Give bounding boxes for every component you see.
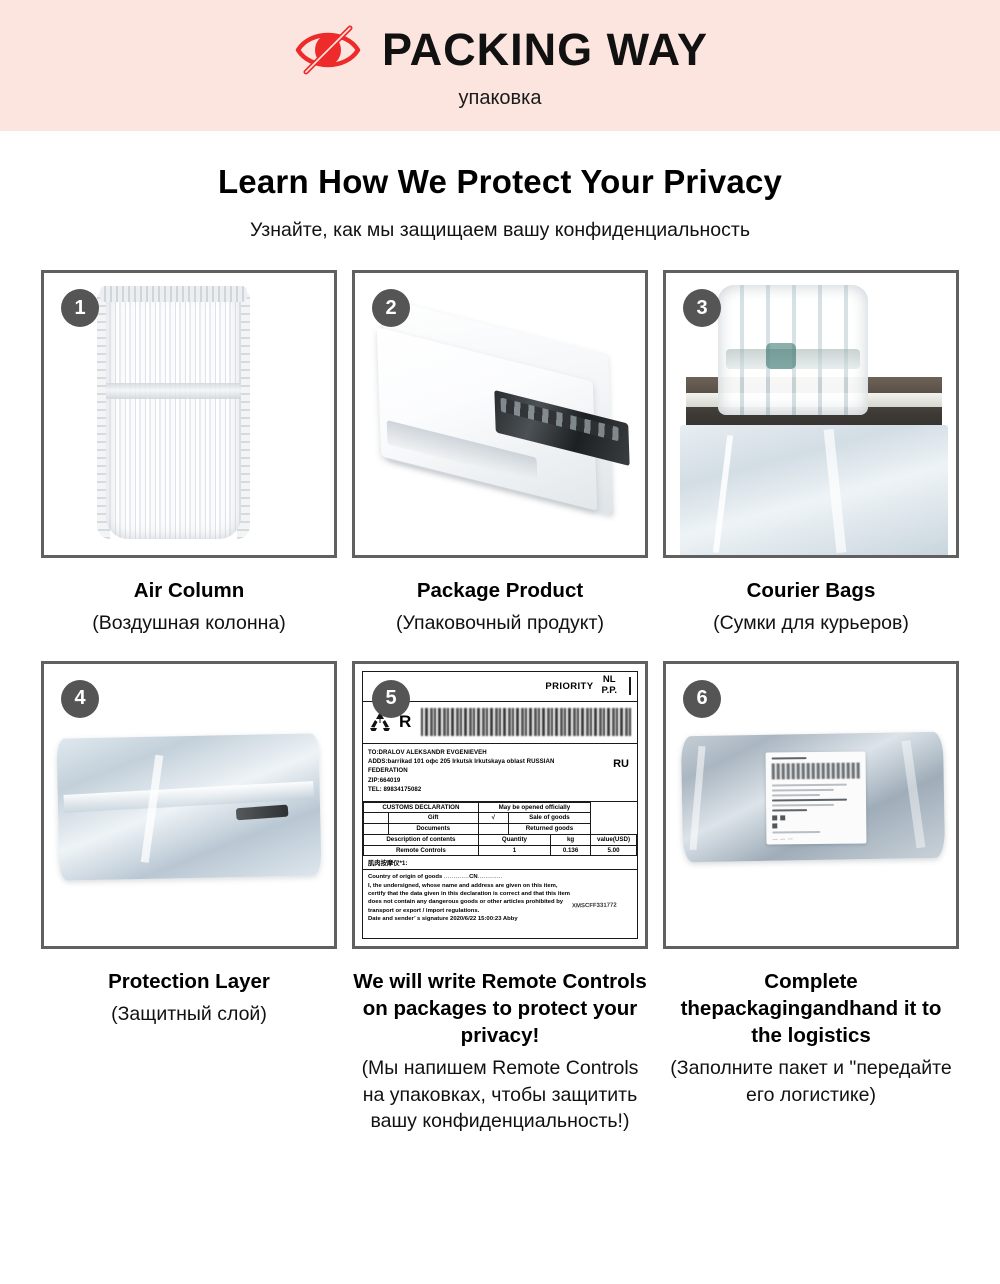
step-title-en-1: Air Column <box>41 577 337 604</box>
label-federation: FEDERATION <box>368 766 632 775</box>
label-zip: ZIP:664019 <box>368 776 632 785</box>
step-card-4: 4 <box>41 661 337 949</box>
page-subtitle: Узнайте, как мы защищаем вашу конфиденци… <box>0 219 1000 242</box>
step-title-en-2: Package Product <box>352 577 648 604</box>
label-tracking-stamp: XMSCFF331772 <box>572 902 617 909</box>
step-card-5: 5 PRIORITY NL P.P. <box>352 661 648 949</box>
brand-name-ru: упаковка <box>459 87 542 110</box>
step-caption-1: Air Column (Воздушная колонна) <box>41 558 337 637</box>
customs-row-kg: 0.136 <box>551 845 591 856</box>
label-address-block: TO:DRALOV ALEKSANDR EVGENIEVEH ADDS:barr… <box>363 744 637 802</box>
label-recipient: TO:DRALOV ALEKSANDR EVGENIEVEH <box>368 748 632 757</box>
label-pp-code: P.P. <box>601 686 617 697</box>
page-header: PACKING WAY упаковка <box>0 0 1000 131</box>
brand-name: PACKING WAY <box>382 27 708 72</box>
step-title-en-6: Complete thepackagingandhand it to the l… <box>663 968 959 1050</box>
origin-row: Country of origin of goods .............… <box>368 873 632 881</box>
customs-col-quantity: Quantity <box>478 834 550 845</box>
customs-header-left: CUSTOMS DECLARATION <box>364 802 479 813</box>
table-row: Remote Controls 1 0.136 5.00 <box>364 845 637 856</box>
step-title-ru-6: (Заполните пакет и "передайте его логист… <box>663 1055 959 1108</box>
step-badge-3: 3 <box>683 289 721 327</box>
label-fineprint: Country of origin of goods .............… <box>363 870 637 926</box>
step-cell-3: 3 Courier Bags (Сумки для курьеров) <box>663 270 959 637</box>
label-barcode <box>421 708 633 736</box>
step-title-en-4: Protection Layer <box>41 968 337 995</box>
step-title-ru-3: (Сумки для курьеров) <box>663 610 959 636</box>
step-title-ru-5: (Мы напишем Remote Controls на упаковках… <box>352 1055 648 1134</box>
signature-line: Date and sender’ s signature 2020/6/22 1… <box>368 915 632 923</box>
label-tel: TEL: 89834175082 <box>368 785 632 794</box>
step-card-2: 2 <box>352 270 648 558</box>
customs-row-quantity: 1 <box>478 845 550 856</box>
step-badge-2: 2 <box>372 289 410 327</box>
origin-label: Country of origin of goods <box>368 874 442 880</box>
step-cell-2: 2 Package Product (Упаковочный продукт) <box>352 270 648 637</box>
label-country-code: RU <box>613 758 629 770</box>
step-card-6: 6 — — — <box>663 661 959 949</box>
table-row: Gift √ Sale of goods <box>364 813 637 824</box>
customs-gift-check: √ <box>478 813 508 824</box>
step-title-ru-4: (Защитный слой) <box>41 1001 337 1027</box>
customs-returned-goods: Returned goods <box>508 824 590 835</box>
customs-gift: Gift <box>388 813 478 824</box>
page-title: Learn How We Protect Your Privacy <box>0 163 1000 201</box>
qr-code-icon <box>772 815 785 828</box>
step-title-ru-2: (Упаковочный продукт) <box>352 610 648 636</box>
step-badge-4: 4 <box>61 680 99 718</box>
customs-col-kg: kg <box>551 834 591 845</box>
step-caption-3: Courier Bags (Сумки для курьеров) <box>663 558 959 637</box>
customs-row-value: 5.00 <box>591 845 637 856</box>
customs-documents: Documents <box>388 824 478 835</box>
step-title-en-3: Courier Bags <box>663 577 959 604</box>
customs-row-description: Remote Controls <box>364 845 479 856</box>
declaration-line-2: certify that the data given in this decl… <box>368 890 632 898</box>
table-row: Description of contents Quantity kg valu… <box>364 834 637 845</box>
step-cell-1: 1 Air Column (Воздушная колонна) <box>41 270 337 637</box>
label-country-block: NL P.P. <box>601 675 617 697</box>
step-title-en-5: We will write Remote Controls on package… <box>352 968 648 1050</box>
table-row: CUSTOMS DECLARATION May be opened offici… <box>364 802 637 813</box>
step-caption-5: We will write Remote Controls on package… <box>352 949 648 1135</box>
origin-value: CN <box>469 874 478 880</box>
steps-grid: 1 Air Column (Воздушная колонна) 2 <box>41 242 959 1134</box>
parcel-label-hand-note: — — — <box>772 835 860 842</box>
customs-col-description: Description of contents <box>364 834 479 845</box>
customs-sale-of-goods: Sale of goods <box>508 813 590 824</box>
table-row: Documents Returned goods <box>364 824 637 835</box>
step-cell-6: 6 — — — Complete thepac <box>663 661 959 1135</box>
declaration-line-1: I, the undersigned, whose name and addre… <box>368 882 632 890</box>
step-card-3: 3 <box>663 270 959 558</box>
page-titles: Learn How We Protect Your Privacy Узнайт… <box>0 131 1000 242</box>
step-caption-2: Package Product (Упаковочный продукт) <box>352 558 648 637</box>
step-badge-6: 6 <box>683 680 721 718</box>
label-divider-bar <box>629 677 631 695</box>
step-cell-5: 5 PRIORITY NL P.P. <box>352 661 648 1135</box>
customs-declaration-table: CUSTOMS DECLARATION May be opened offici… <box>363 802 637 857</box>
label-cn-item: 肌肉按摩仪*1: <box>363 856 637 870</box>
step-card-1: 1 <box>41 270 337 558</box>
brand-row: PACKING WAY <box>292 22 708 78</box>
customs-col-value: value(USD) <box>591 834 637 845</box>
customs-header-right: May be opened officially <box>478 802 590 813</box>
parcel-shipping-label: — — — <box>766 751 867 844</box>
step-title-ru-1: (Воздушная колонна) <box>41 610 337 636</box>
step-caption-6: Complete thepackagingandhand it to the l… <box>663 949 959 1108</box>
label-priority-text: PRIORITY <box>545 681 593 692</box>
step-caption-4: Protection Layer (Защитный слой) <box>41 949 337 1028</box>
eye-slash-icon <box>292 22 364 78</box>
label-address: ADDS:barrikad 101 офc 205 Irkutsk Irkuts… <box>368 757 632 766</box>
step-cell-4: 4 Protection Layer (Защитный слой) <box>41 661 337 1135</box>
step-badge-1: 1 <box>61 289 99 327</box>
step-badge-5: 5 <box>372 680 410 718</box>
